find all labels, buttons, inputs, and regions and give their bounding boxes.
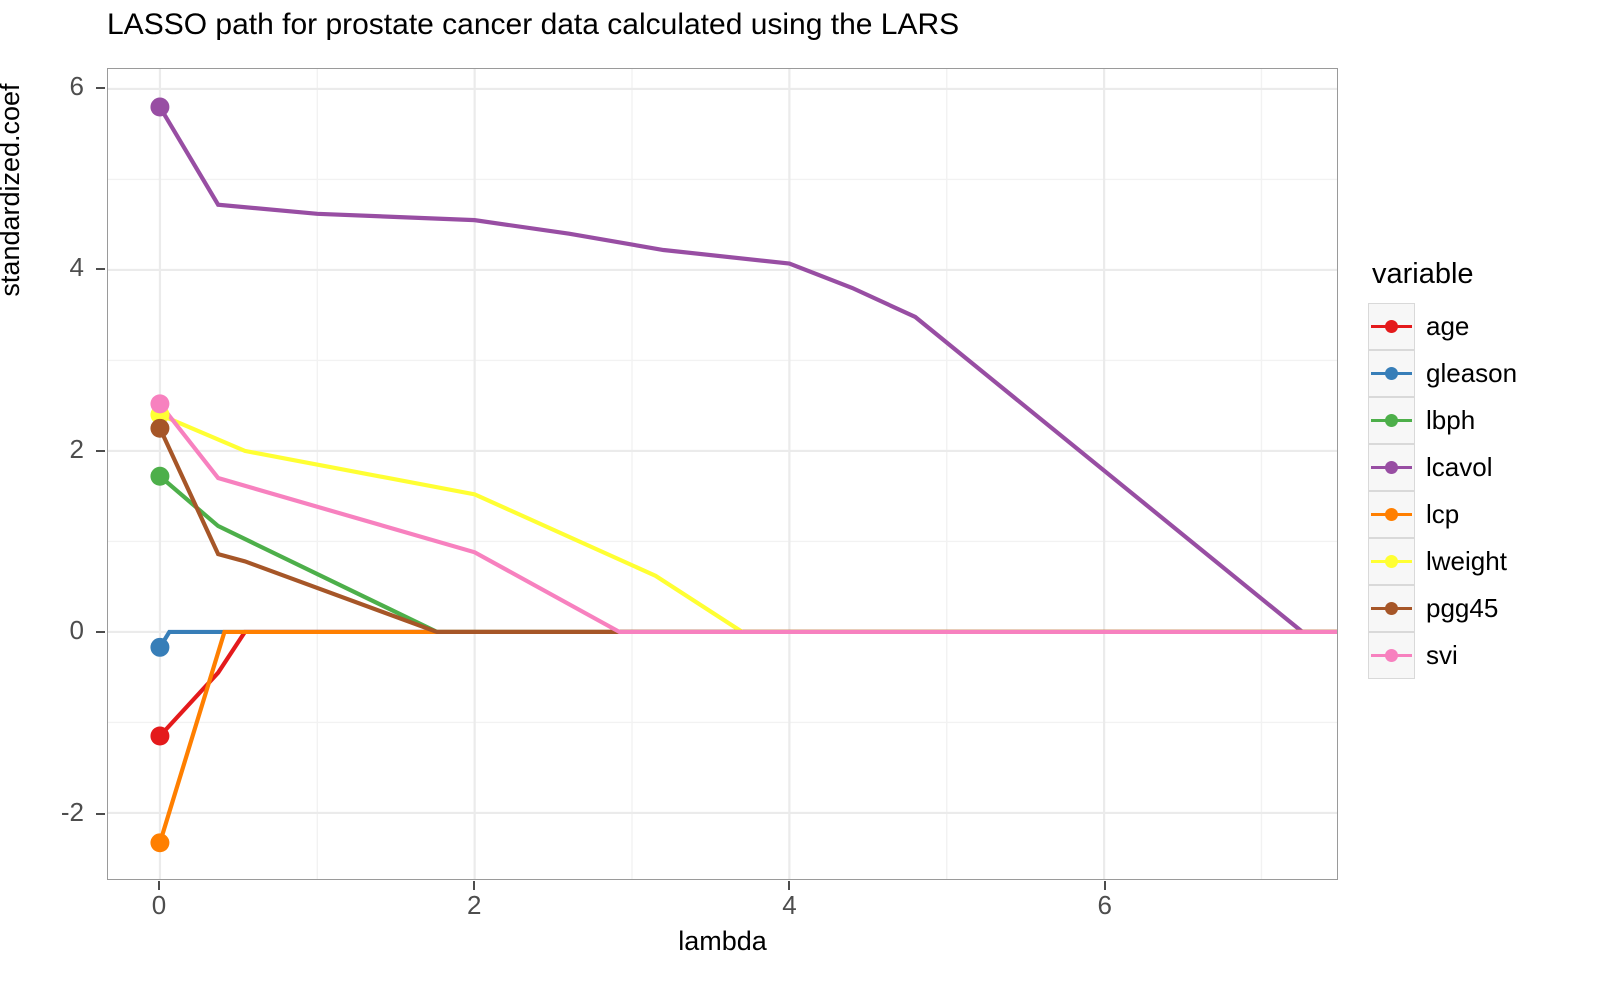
y-axis-title: standardized.coef <box>0 30 26 350</box>
legend-key-swatch <box>1368 632 1415 679</box>
legend-label: svi <box>1426 640 1458 671</box>
legend-point-icon <box>1385 461 1398 474</box>
series-start-point-age <box>150 727 169 746</box>
x-tick-label: 2 <box>444 890 504 921</box>
legend-label: lweight <box>1426 546 1507 577</box>
y-tick-mark <box>96 450 105 452</box>
legend-items: agegleasonlbphlcavollcplweightpgg45svi <box>1368 303 1588 679</box>
x-tick-mark <box>1104 881 1106 890</box>
legend-item-lbph[interactable]: lbph <box>1368 397 1588 444</box>
x-tick-label: 0 <box>129 890 189 921</box>
series-start-point-pgg45 <box>150 419 169 438</box>
legend-key-swatch <box>1368 444 1415 491</box>
legend-key-swatch <box>1368 585 1415 632</box>
y-tick-mark <box>96 631 105 633</box>
x-tick-mark <box>788 881 790 890</box>
legend-label: lbph <box>1426 405 1475 436</box>
legend-label: lcp <box>1426 499 1459 530</box>
series-line-age <box>160 632 1337 736</box>
legend-label: lcavol <box>1426 452 1492 483</box>
series-start-point-lcp <box>150 833 169 852</box>
series-start-point-lcavol <box>150 98 169 117</box>
legend-point-icon <box>1385 649 1398 662</box>
legend-key-swatch <box>1368 350 1415 397</box>
series-line-lweight <box>160 415 1337 632</box>
y-tick-label: 6 <box>28 71 84 102</box>
y-tick-label: -2 <box>28 797 84 828</box>
legend-point-icon <box>1385 367 1398 380</box>
y-tick-mark <box>96 268 105 270</box>
legend-point-icon <box>1385 555 1398 568</box>
x-tick-label: 6 <box>1075 890 1135 921</box>
y-tick-mark <box>96 813 105 815</box>
series-start-point-lbph <box>150 467 169 486</box>
legend-label: gleason <box>1426 358 1517 389</box>
chart-title: LASSO path for prostate cancer data calc… <box>107 8 1347 42</box>
legend-label: pgg45 <box>1426 593 1498 624</box>
legend-key-swatch <box>1368 538 1415 585</box>
plot-panel <box>107 68 1338 880</box>
chart-container: LASSO path for prostate cancer data calc… <box>0 0 1600 1000</box>
legend-item-pgg45[interactable]: pgg45 <box>1368 585 1588 632</box>
plot-area <box>108 69 1337 879</box>
x-tick-mark <box>158 881 160 890</box>
legend-point-icon <box>1385 602 1398 615</box>
y-tick-label: 4 <box>28 252 84 283</box>
series-line-pgg45 <box>160 428 1337 632</box>
x-tick-label: 4 <box>759 890 819 921</box>
legend-key-swatch <box>1368 397 1415 444</box>
legend-key-swatch <box>1368 491 1415 538</box>
series-start-point-svi <box>150 394 169 413</box>
series-line-lbph <box>160 476 1337 632</box>
legend-point-icon <box>1385 508 1398 521</box>
y-tick-label: 2 <box>28 434 84 465</box>
y-tick-label: 0 <box>28 615 84 646</box>
series-start-point-gleason <box>150 638 169 657</box>
legend-item-lcp[interactable]: lcp <box>1368 491 1588 538</box>
legend-item-age[interactable]: age <box>1368 303 1588 350</box>
x-axis-title: lambda <box>107 926 1338 957</box>
legend-item-gleason[interactable]: gleason <box>1368 350 1588 397</box>
legend-item-lcavol[interactable]: lcavol <box>1368 444 1588 491</box>
series-line-gleason <box>160 632 1337 647</box>
legend: variable agegleasonlbphlcavollcplweightp… <box>1368 258 1588 679</box>
y-tick-mark <box>96 87 105 89</box>
legend-point-icon <box>1385 414 1398 427</box>
series-line-lcavol <box>160 107 1337 632</box>
series-line-lcp <box>160 632 1337 843</box>
legend-item-svi[interactable]: svi <box>1368 632 1588 679</box>
legend-item-lweight[interactable]: lweight <box>1368 538 1588 585</box>
legend-title: variable <box>1372 258 1588 291</box>
legend-key-swatch <box>1368 303 1415 350</box>
x-tick-mark <box>473 881 475 890</box>
legend-label: age <box>1426 311 1469 342</box>
legend-point-icon <box>1385 320 1398 333</box>
